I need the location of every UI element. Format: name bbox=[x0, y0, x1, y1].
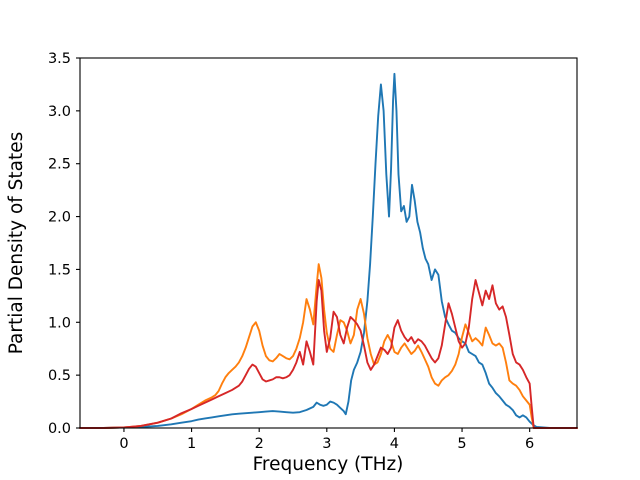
series-line-3 bbox=[80, 280, 577, 428]
y-axis-ticks: 0.00.51.01.52.02.53.03.5 bbox=[48, 51, 80, 437]
y-axis-title: Partial Density of States bbox=[6, 132, 27, 355]
series-line-1 bbox=[80, 74, 577, 428]
x-tick-label: 1 bbox=[187, 436, 196, 452]
x-axis-ticks: 0123456 bbox=[119, 428, 534, 452]
figure-canvas: 0123456 0.00.51.01.52.02.53.03.5 Frequen… bbox=[0, 0, 640, 480]
pdos-line-chart: 0123456 0.00.51.01.52.02.53.03.5 Frequen… bbox=[0, 0, 640, 480]
axes-frame bbox=[80, 58, 577, 428]
y-tick-label: 1.5 bbox=[48, 262, 71, 278]
x-tick-label: 0 bbox=[119, 436, 128, 452]
x-tick-label: 3 bbox=[322, 436, 331, 452]
y-tick-label: 2.5 bbox=[48, 157, 71, 173]
y-tick-label: 1.0 bbox=[48, 315, 71, 331]
y-tick-label: 3.5 bbox=[48, 51, 71, 67]
x-tick-label: 5 bbox=[457, 436, 466, 452]
x-tick-label: 6 bbox=[525, 436, 534, 452]
y-tick-label: 2.0 bbox=[48, 210, 71, 226]
x-tick-label: 4 bbox=[390, 436, 399, 452]
x-tick-label: 2 bbox=[255, 436, 264, 452]
y-tick-label: 0.5 bbox=[48, 368, 71, 384]
x-axis-title: Frequency (THz) bbox=[253, 454, 404, 475]
y-tick-label: 0.0 bbox=[48, 421, 71, 437]
series-group bbox=[80, 74, 577, 428]
y-tick-label: 3.0 bbox=[48, 104, 71, 120]
plot-frame bbox=[80, 58, 577, 428]
